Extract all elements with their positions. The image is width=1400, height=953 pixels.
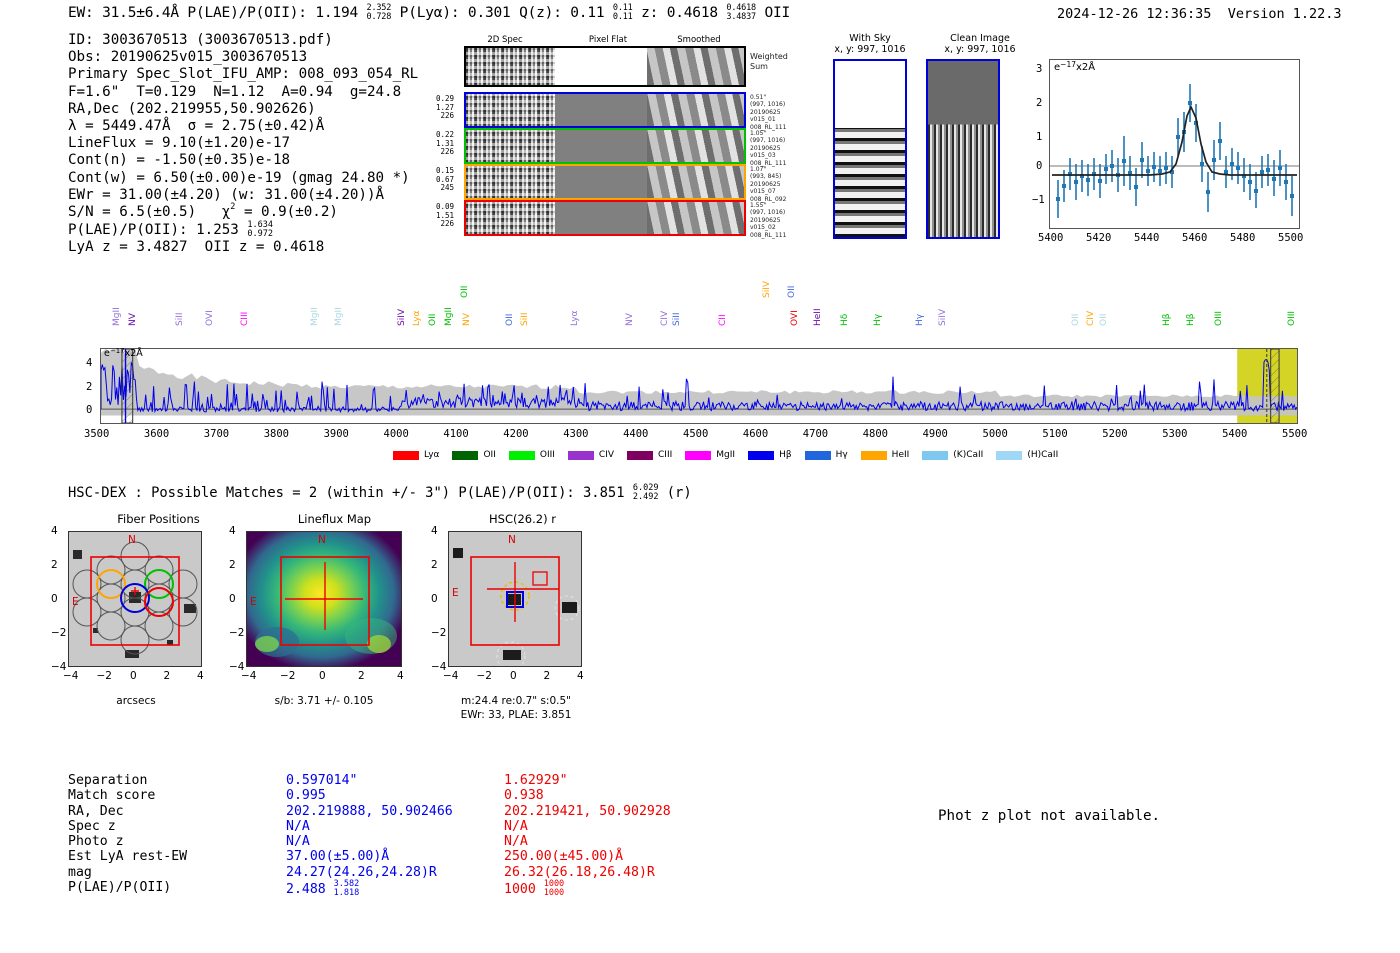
fiber-smoothed-1 bbox=[647, 130, 744, 162]
table-row: Photo zN/AN/A bbox=[68, 834, 671, 849]
fullspec-xtick-3700: 3700 bbox=[204, 428, 229, 440]
fullspec-xtick-5000: 5000 bbox=[983, 428, 1008, 440]
line-label-OII-11: OII bbox=[460, 286, 470, 298]
withsky-image bbox=[833, 59, 907, 239]
info-cont-w: Cont(w) = 6.50(±0.00)e-19 (gmag 24.80 *) bbox=[68, 170, 418, 187]
table-row: Spec zN/AN/A bbox=[68, 819, 671, 834]
cutout0-ytick-1: 2 bbox=[51, 559, 58, 571]
legend-label-2: OIII bbox=[540, 450, 555, 460]
table-col1-value-6: 24.27(24.26,24.28)R bbox=[286, 865, 504, 880]
table-col1-value-4: N/A bbox=[286, 834, 504, 849]
zoom-ytick-1: 1 bbox=[1036, 131, 1042, 143]
fiber-2dspec-2 bbox=[466, 166, 555, 198]
legend-item-Ly: Lyα bbox=[393, 450, 439, 460]
cutout1-ytick-1: 2 bbox=[229, 559, 236, 571]
fullspec-xtick-3900: 3900 bbox=[324, 428, 349, 440]
fiber-2dspec-1 bbox=[466, 130, 555, 162]
fiber-pixelflat-0 bbox=[555, 94, 647, 126]
fiber-stats-3: 0.091.51226 bbox=[424, 203, 454, 229]
info-ewr: EWr = 31.00(±4.20) (w: 31.00(±4.20))Å bbox=[68, 187, 418, 204]
cutout-title-fiber-positions: Fiber Positions bbox=[66, 512, 251, 526]
line-label-H-24: Hδ bbox=[840, 314, 850, 326]
line-label-CII-19: CII bbox=[718, 314, 728, 326]
cutout2-xtick-1: −2 bbox=[477, 670, 492, 682]
fiber-stats-1: 0.221.31226 bbox=[424, 131, 454, 157]
legend-label-6: Hβ bbox=[779, 450, 792, 460]
legend-label-5: MgII bbox=[716, 450, 735, 460]
line-label-SiIV-20: SiIV bbox=[762, 281, 772, 298]
info-lambda-sigma: λ = 5449.47Å σ = 2.75(±0.42)Å bbox=[68, 118, 418, 135]
table-col1-value-0: 0.597014" bbox=[286, 773, 504, 788]
line-label-NV-16: NV bbox=[625, 313, 635, 326]
cutout-title-hsc-r: HSC(26.2) r bbox=[430, 512, 615, 526]
table-row: mag24.27(24.26,24.28)R26.32(26.18,26.48)… bbox=[68, 865, 671, 880]
legend-swatch-1 bbox=[452, 451, 478, 460]
table-row: Separation0.597014"1.62929" bbox=[68, 773, 671, 788]
line-label-SiIV-7: SiIV bbox=[397, 309, 407, 326]
cutout2-ytick-0: 4 bbox=[431, 525, 438, 537]
line-label-MgII-6: MgII bbox=[334, 307, 344, 326]
cutout-caption-hsc-ewr: EWr: 33, PLAE: 3.851 bbox=[438, 709, 594, 721]
cutout-caption-arcsecs: arcsecs bbox=[66, 695, 206, 707]
table-col1-value-5: 37.00(±5.00)Å bbox=[286, 849, 504, 864]
fullspec-xtick-4600: 4600 bbox=[743, 428, 768, 440]
legend-label-4: CIII bbox=[658, 450, 672, 460]
line-label-CIV-17: CIV bbox=[660, 311, 670, 326]
fiber-meta-3: 1.55"(997, 1016)20190625v015_02008_RL_11… bbox=[750, 202, 806, 239]
header-timestamp-version: 2024-12-26 12:36:35 Version 1.22.3 bbox=[1057, 6, 1342, 22]
cutout2-ytick-1: 2 bbox=[431, 559, 438, 571]
cutout-caption-hsc-mag: m:24.4 re:0.7" s:0.5" bbox=[438, 695, 594, 707]
table-col2-value-4: N/A bbox=[504, 834, 671, 849]
table-col2-value-2: 202.219421, 50.902928 bbox=[504, 804, 671, 819]
fullspec-xtick-4700: 4700 bbox=[803, 428, 828, 440]
line-label-H-32: Hβ bbox=[1186, 313, 1196, 326]
info-id: ID: 3003670513 (3003670513.pdf) bbox=[68, 32, 418, 49]
fullspec-xtick-4800: 4800 bbox=[863, 428, 888, 440]
table-col1-value-1: 0.995 bbox=[286, 788, 504, 803]
fiber-smoothed-3 bbox=[647, 202, 744, 234]
hsc-r-svg bbox=[449, 532, 581, 666]
line-label-OII-9: OII bbox=[428, 314, 438, 326]
fullspec-xtick-3800: 3800 bbox=[264, 428, 289, 440]
ws-2dspec-image bbox=[466, 48, 555, 85]
legend-swatch-6 bbox=[748, 451, 774, 460]
legend-label-7: Hγ bbox=[836, 450, 848, 460]
cutout1-ytick-2: 0 bbox=[229, 593, 236, 605]
line-label-CIII-4: CIII bbox=[240, 312, 250, 326]
fiber-stats-2: 0.150.67245 bbox=[424, 167, 454, 193]
cutout1-ytick-4: −4 bbox=[229, 661, 244, 673]
zoom-ytick-3: 3 bbox=[1036, 63, 1042, 75]
zoom-spectrum-svg bbox=[1050, 60, 1299, 228]
panel-title-smoothed: Smoothed bbox=[664, 35, 734, 45]
line-label-OII-28: OII bbox=[1071, 314, 1081, 326]
version-label: Version 1.22.3 bbox=[1228, 6, 1342, 22]
table-label-4: Photo z bbox=[68, 834, 286, 849]
fiber-meta-1: 1.05"(997, 1016)20190625v015_03008_RL_11… bbox=[750, 130, 806, 167]
line-label-OIII-34: OIII bbox=[1287, 311, 1297, 326]
info-seeing: F=1.6" T=0.129 N=1.12 A=0.94 g=24.8 bbox=[68, 84, 418, 101]
withsky-title: With Sky x, y: 997, 1016 bbox=[815, 33, 925, 55]
ws-pixelflat-image bbox=[555, 48, 647, 85]
fiber-smoothed-2 bbox=[647, 166, 744, 198]
table-col2-value-1: 0.938 bbox=[504, 788, 671, 803]
line-label-OII-13: OII bbox=[505, 314, 515, 326]
fiber-strip-0 bbox=[464, 92, 746, 128]
table-label-3: Spec z bbox=[68, 819, 286, 834]
table-col2-value-7: 1000 10001000 bbox=[504, 880, 671, 898]
cutout0-xtick-1: −2 bbox=[97, 670, 112, 682]
line-label-SiII-18: SiII bbox=[672, 312, 682, 326]
table-label-5: Est LyA rest-EW bbox=[68, 849, 286, 864]
table-label-0: Separation bbox=[68, 773, 286, 788]
legend-item-H: Hγ bbox=[805, 450, 848, 460]
line-label-OVI-22: OVI bbox=[790, 310, 800, 326]
legend-swatch-8 bbox=[861, 451, 887, 460]
table-label-7: P(LAE)/P(OII) bbox=[68, 880, 286, 898]
cutout1-xtick-2: 0 bbox=[319, 670, 326, 682]
legend-item-MgII: MgII bbox=[685, 450, 735, 460]
cutout2-xtick-3: 2 bbox=[544, 670, 551, 682]
line-label-H-25: Hγ bbox=[873, 314, 883, 326]
fiber-smoothed-0 bbox=[647, 94, 744, 126]
fullspec-ytick-4: 4 bbox=[86, 357, 92, 369]
fiber-positions-svg bbox=[69, 532, 201, 666]
fullspec-xtick-5400: 5400 bbox=[1222, 428, 1247, 440]
line-label-Ly-8: Lyα bbox=[412, 311, 422, 326]
legend-label-8: HeII bbox=[892, 450, 910, 460]
header-z-tail: OII bbox=[756, 5, 790, 21]
table-col2-value-3: N/A bbox=[504, 819, 671, 834]
header-ew-plae: EW: 31.5±6.4Å P(LAE)/P(OII): 1.194 bbox=[68, 5, 367, 21]
table-row: P(LAE)/P(OII)2.488 3.5821.8181000 100010… bbox=[68, 880, 671, 898]
fullspec-xtick-4100: 4100 bbox=[443, 428, 468, 440]
line-label-Ly-15: Lyα bbox=[570, 311, 580, 326]
zoom-ytick-neg1: −1 bbox=[1032, 194, 1045, 206]
cutout2-ytick-3: −2 bbox=[431, 627, 446, 639]
line-label-MgII-0: MgII bbox=[112, 307, 122, 326]
table-col1-value-3: N/A bbox=[286, 819, 504, 834]
legend-swatch-2 bbox=[509, 451, 535, 460]
fiber-2dspec-3 bbox=[466, 202, 555, 234]
line-label-OIII-33: OIII bbox=[1214, 311, 1224, 326]
legend-item-KCaII: (K)CaII bbox=[922, 450, 983, 460]
zoom-ytick-0: 0 bbox=[1036, 160, 1042, 172]
legend-item-HeII: HeII bbox=[861, 450, 910, 460]
legend-item-CIV: CIV bbox=[568, 450, 614, 460]
compass-n-lineflux: N bbox=[318, 534, 326, 546]
fiber-pixelflat-1 bbox=[555, 130, 647, 162]
cutout0-xtick-2: 0 bbox=[130, 670, 137, 682]
line-label-SiII-2: SiII bbox=[175, 312, 185, 326]
info-radec: RA,Dec (202.219955,50.902626) bbox=[68, 101, 418, 118]
line-label-NV-12: NV bbox=[462, 313, 472, 326]
header-summary-line: EW: 31.5±6.4Å P(LAE)/P(OII): 1.194 2.352… bbox=[68, 4, 790, 22]
line-label-SiII-14: SiII bbox=[520, 312, 530, 326]
table-label-2: RA, Dec bbox=[68, 804, 286, 819]
compass-n-hsc: N bbox=[508, 534, 516, 546]
line-label-H-31: Hβ bbox=[1162, 313, 1172, 326]
legend-swatch-5 bbox=[685, 451, 711, 460]
fullspec-xtick-4400: 4400 bbox=[623, 428, 648, 440]
hscdex-summary: HSC-DEX : Possible Matches = 2 (within +… bbox=[68, 484, 692, 502]
legend-item-OIII: OIII bbox=[509, 450, 555, 460]
info-plae-range: 1.6340.972 bbox=[247, 221, 273, 239]
panel-title-pixelflat: Pixel Flat bbox=[573, 35, 643, 45]
fullspec-xtick-5300: 5300 bbox=[1162, 428, 1187, 440]
zoom-ytick-2: 2 bbox=[1036, 97, 1042, 109]
zoom-xtick-5500: 5500 bbox=[1278, 232, 1303, 244]
fullspec-xtick-4200: 4200 bbox=[503, 428, 528, 440]
info-snr-chi2: S/N = 6.5(±0.5) χ2 = 0.9(±0.2) bbox=[68, 204, 418, 221]
match-table: Separation0.597014"1.62929"Match score0.… bbox=[68, 773, 671, 898]
z-range: 0.46183.4837 bbox=[726, 4, 756, 22]
cutout0-ytick-4: −4 bbox=[51, 661, 66, 673]
ws-smoothed-image bbox=[647, 48, 744, 85]
legend-label-10: (H)CaII bbox=[1027, 450, 1058, 460]
phot-z-unavailable-message: Phot z plot not available. bbox=[938, 808, 1160, 824]
line-label-OII-21: OII bbox=[787, 286, 797, 298]
fullspec-xtick-4900: 4900 bbox=[923, 428, 948, 440]
table-label-1: Match score bbox=[68, 788, 286, 803]
fiber-meta-0: 0.51"(997, 1016)20190625v015_01008_RL_11… bbox=[750, 94, 806, 131]
info-obs: Obs: 20190625v015_3003670513 bbox=[68, 49, 418, 66]
full-spectrum-svg bbox=[101, 349, 1297, 423]
match-table-body: Separation0.597014"1.62929"Match score0.… bbox=[68, 773, 671, 898]
legend-item-HCaII: (H)CaII bbox=[996, 450, 1058, 460]
chi-exponent: 2 bbox=[230, 203, 235, 211]
line-color-legend: LyαOIIOIIICIVCIIIMgIIHβHγHeII(K)CaII(H)C… bbox=[393, 450, 1071, 460]
table-label-6: mag bbox=[68, 865, 286, 880]
line-label-OII-30: OII bbox=[1099, 314, 1109, 326]
cutout0-ytick-3: −2 bbox=[51, 627, 66, 639]
info-cont-n: Cont(n) = -1.50(±0.35)e-18 bbox=[68, 152, 418, 169]
compass-e-lineflux: E bbox=[250, 596, 257, 608]
info-lineflux: LineFlux = 9.10(±1.20)e-17 bbox=[68, 135, 418, 152]
hsc-r-image bbox=[448, 531, 582, 667]
info-plae: P(LAE)/P(OII): 1.253 1.6340.972 bbox=[68, 221, 418, 239]
zoom-xtick-5420: 5420 bbox=[1086, 232, 1111, 244]
full-spectrum-plot: e−17x2Å bbox=[100, 348, 1298, 424]
legend-label-9: (K)CaII bbox=[953, 450, 983, 460]
panel-title-2dspec: 2D Spec bbox=[470, 35, 540, 45]
line-label-SiIV-27: SiIV bbox=[938, 309, 948, 326]
compass-e-hsc: E bbox=[452, 587, 459, 599]
cutout1-ytick-0: 4 bbox=[229, 525, 236, 537]
legend-swatch-7 bbox=[805, 451, 831, 460]
hscdex-plae-range: 6.0292.492 bbox=[633, 484, 659, 502]
cutout0-ytick-2: 0 bbox=[51, 593, 58, 605]
fiber-pixelflat-3 bbox=[555, 202, 647, 234]
weighted-sum-label: Weighted Sum bbox=[750, 52, 794, 71]
fullspec-y-unit: e−17x2Å bbox=[104, 348, 143, 359]
plae-range-top: 2.3520.728 bbox=[367, 4, 392, 22]
lineflux-map-image bbox=[246, 531, 402, 667]
fullspec-xtick-3600: 3600 bbox=[144, 428, 169, 440]
line-label-OVI-3: OVI bbox=[205, 310, 215, 326]
cutout2-ytick-2: 0 bbox=[431, 593, 438, 605]
fullspec-xtick-4300: 4300 bbox=[563, 428, 588, 440]
lineflux-map-svg bbox=[247, 532, 401, 666]
zoom-xtick-5460: 5460 bbox=[1182, 232, 1207, 244]
legend-swatch-9 bbox=[922, 451, 948, 460]
table-row: RA, Dec202.219888, 50.902466202.219421, … bbox=[68, 804, 671, 819]
table-col1-value-2: 202.219888, 50.902466 bbox=[286, 804, 504, 819]
table-col1-plae-range: 3.5821.818 bbox=[334, 880, 360, 898]
legend-label-0: Lyα bbox=[424, 450, 439, 460]
fullspec-xtick-5100: 5100 bbox=[1042, 428, 1067, 440]
table-col2-plae-range: 10001000 bbox=[544, 880, 564, 898]
fiber-strip-2 bbox=[464, 164, 746, 200]
header-plya-qz: P(Lyα): 0.301 Q(z): 0.11 bbox=[391, 5, 613, 21]
line-label-NV-1: NV bbox=[128, 313, 138, 326]
fiber-positions-image bbox=[68, 531, 202, 667]
fullspec-ytick-2: 2 bbox=[86, 381, 92, 393]
legend-swatch-4 bbox=[627, 451, 653, 460]
cutout2-ytick-4: −4 bbox=[431, 661, 446, 673]
line-label-HeII-23: HeII bbox=[813, 308, 823, 326]
fullspec-ytick-0: 0 bbox=[86, 404, 92, 416]
zoom-spectrum-plot: e−17x2Å bbox=[1049, 59, 1300, 229]
line-label-MgII-5: MgII bbox=[310, 307, 320, 326]
cutout-caption-sb: s/b: 3.71 +/- 0.105 bbox=[236, 695, 412, 707]
fullspec-xtick-5200: 5200 bbox=[1102, 428, 1127, 440]
fullspec-xtick-4500: 4500 bbox=[683, 428, 708, 440]
fullspec-xtick-3500: 3500 bbox=[84, 428, 109, 440]
cutout1-xtick-1: −2 bbox=[280, 670, 295, 682]
line-label-CIV-29: CIV bbox=[1086, 311, 1096, 326]
cutout1-xtick-4: 4 bbox=[397, 670, 404, 682]
cutout1-ytick-3: −2 bbox=[229, 627, 244, 639]
compass-n-fiber: N bbox=[128, 534, 136, 546]
legend-item-H: Hβ bbox=[748, 450, 792, 460]
cutout0-xtick-3: 2 bbox=[164, 670, 171, 682]
fullspec-xtick-4000: 4000 bbox=[384, 428, 409, 440]
fullspec-xtick-5500: 5500 bbox=[1282, 428, 1307, 440]
cutout2-xtick-4: 4 bbox=[577, 670, 584, 682]
fiber-pixelflat-2 bbox=[555, 166, 647, 198]
info-spec-slot: Primary Spec_Slot_IFU_AMP: 008_093_054_R… bbox=[68, 66, 418, 83]
cutout0-xtick-4: 4 bbox=[197, 670, 204, 682]
legend-swatch-3 bbox=[568, 451, 594, 460]
cutout2-xtick-2: 0 bbox=[510, 670, 517, 682]
timestamp: 2024-12-26 12:36:35 bbox=[1057, 6, 1211, 22]
qz-range: 0.110.11 bbox=[613, 4, 633, 22]
fiber-2dspec-0 bbox=[466, 94, 555, 126]
fiber-stats-0: 0.291.27226 bbox=[424, 95, 454, 121]
legend-swatch-10 bbox=[996, 451, 1022, 460]
zoom-xtick-5480: 5480 bbox=[1230, 232, 1255, 244]
zoom-xtick-5400: 5400 bbox=[1038, 232, 1063, 244]
legend-label-1: OII bbox=[483, 450, 495, 460]
cutout-title-lineflux-map: Lineflux Map bbox=[242, 512, 427, 526]
compass-e-fiber: E bbox=[72, 596, 79, 608]
fiber-strip-3 bbox=[464, 200, 746, 236]
cleanimage-image bbox=[926, 59, 1000, 239]
info-redshifts: LyA z = 3.4827 OII z = 0.4618 bbox=[68, 239, 418, 256]
table-col2-value-0: 1.62929" bbox=[504, 773, 671, 788]
table-row: Est LyA rest-EW37.00(±5.00)Å250.00(±45.0… bbox=[68, 849, 671, 864]
cleanimage-title: Clean Image x, y: 997, 1016 bbox=[925, 33, 1035, 55]
header-z: z: 0.4618 bbox=[633, 5, 727, 21]
table-col1-value-7: 2.488 3.5821.818 bbox=[286, 880, 504, 898]
cutout0-ytick-0: 4 bbox=[51, 525, 58, 537]
legend-label-3: CIV bbox=[599, 450, 614, 460]
line-label-MgII-10: MgII bbox=[444, 307, 454, 326]
table-col2-value-5: 250.00(±45.00)Å bbox=[504, 849, 671, 864]
table-col2-value-6: 26.32(26.18,26.48)R bbox=[504, 865, 671, 880]
weighted-sum-strip bbox=[464, 46, 746, 87]
legend-item-CIII: CIII bbox=[627, 450, 672, 460]
legend-item-OII: OII bbox=[452, 450, 495, 460]
cutout1-xtick-3: 2 bbox=[358, 670, 365, 682]
zoom-xtick-5440: 5440 bbox=[1134, 232, 1159, 244]
source-info-block: ID: 3003670513 (3003670513.pdf) Obs: 201… bbox=[68, 32, 418, 257]
fiber-strip-1 bbox=[464, 128, 746, 164]
line-label-H-26: Hγ bbox=[915, 314, 925, 326]
fiber-meta-2: 1.07"(993, 845)20190625v015_07008_RL_092 bbox=[750, 166, 806, 203]
table-row: Match score0.9950.938 bbox=[68, 788, 671, 803]
legend-swatch-0 bbox=[393, 451, 419, 460]
